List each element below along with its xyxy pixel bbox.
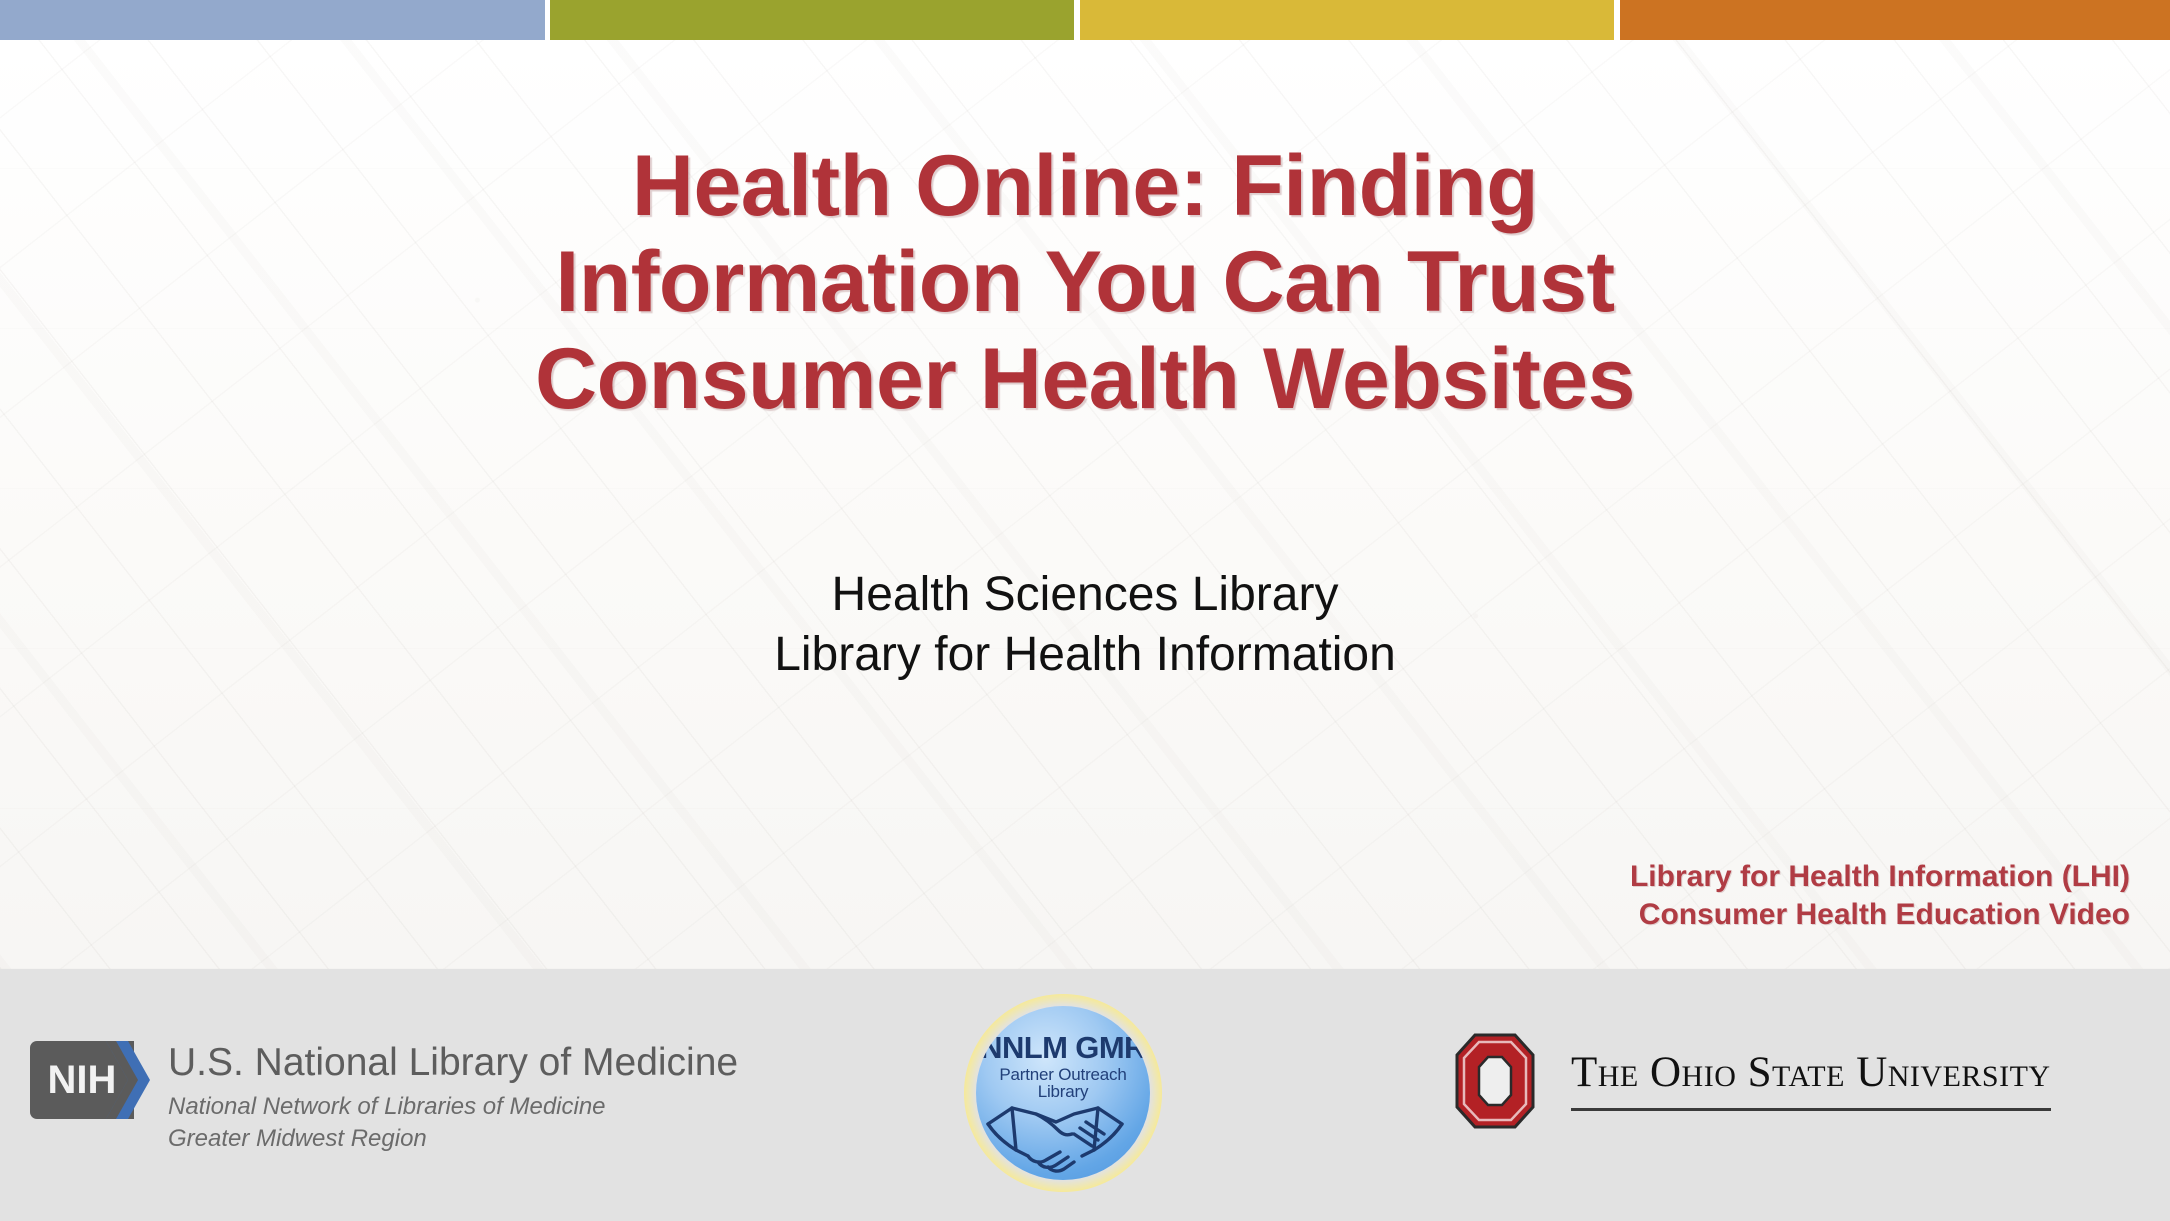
title-line-3: Consumer Health Websites <box>0 331 2170 427</box>
nnlm-gmr-logo: NNLM GMR Partner Outreach Library <box>955 985 1171 1201</box>
subtitle-line-2: Library for Health Information <box>0 625 2170 685</box>
subtitle-line-1: Health Sciences Library <box>0 565 2170 625</box>
color-bar-blue <box>0 0 545 40</box>
slide-caption: Library for Health Information (LHI) Con… <box>1630 858 2130 935</box>
title-line-1: Health Online: Finding <box>0 138 2170 234</box>
title-line-2: Information You Can Trust <box>0 234 2170 330</box>
osu-underline-rule <box>1571 1108 2051 1111</box>
nlm-subtitle-2: Greater Midwest Region <box>168 1123 738 1155</box>
slide-subtitle: Health Sciences Library Library for Heal… <box>0 565 2170 686</box>
osu-wordmark: The Ohio State University <box>1571 1051 2051 1094</box>
nnlm-circle-badge: NNLM GMR Partner Outreach Library <box>976 1006 1150 1180</box>
nih-badge-label: NIH <box>30 1041 134 1119</box>
caption-line-1: Library for Health Information (LHI) <box>1630 858 2130 896</box>
slide-title: Health Online: Finding Information You C… <box>0 138 2170 427</box>
ohio-state-logo: The Ohio State University <box>1455 1033 2051 1129</box>
caption-line-2: Consumer Health Education Video <box>1630 896 2130 934</box>
nih-nlm-logo: NIH U.S. National Library of Medicine Na… <box>30 1041 738 1155</box>
nlm-title: U.S. National Library of Medicine <box>168 1043 738 1084</box>
nlm-subtitle-1: National Network of Libraries of Medicin… <box>168 1091 738 1123</box>
top-color-bar-strip <box>0 0 2170 40</box>
color-bar-gold <box>1080 0 1614 40</box>
nnlm-title: NNLM GMR <box>976 1032 1150 1063</box>
osu-block-o-icon <box>1455 1033 1535 1129</box>
color-bar-orange <box>1620 0 2170 40</box>
slide-footer: NIH U.S. National Library of Medicine Na… <box>0 969 2170 1221</box>
presentation-slide: Health Online: Finding Information You C… <box>0 0 2170 1221</box>
color-bar-olive <box>550 0 1074 40</box>
handshake-icon <box>982 1084 1144 1174</box>
nih-badge-icon: NIH <box>30 1041 134 1119</box>
